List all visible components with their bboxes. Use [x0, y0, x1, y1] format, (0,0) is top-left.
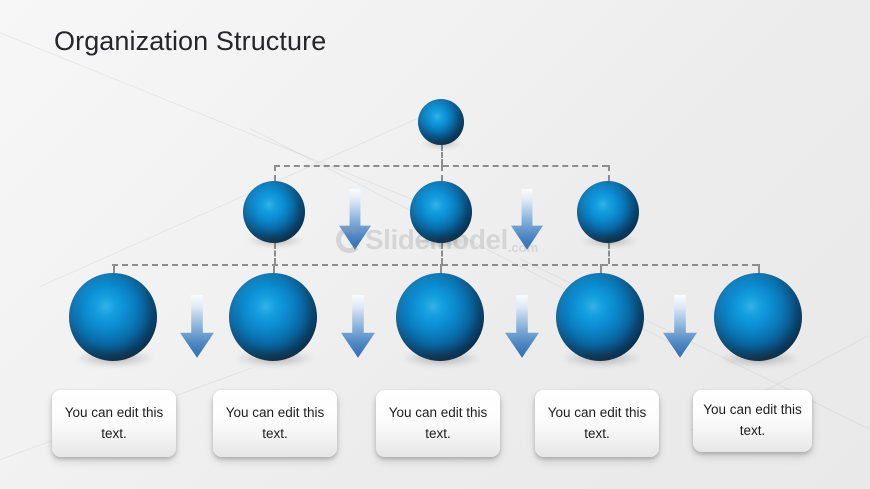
- org-node-sphere[interactable]: [243, 181, 305, 243]
- connector-vertical: [440, 264, 442, 273]
- down-arrow-icon: [511, 189, 543, 251]
- connector-vertical: [600, 264, 602, 273]
- editable-text-box[interactable]: You can edit this text.: [693, 390, 812, 452]
- org-node-sphere[interactable]: [714, 273, 802, 361]
- connector-vertical: [608, 165, 610, 181]
- slide-canvas: Organization Structure SlideModel .com Y…: [0, 0, 870, 489]
- org-node-sphere[interactable]: [229, 273, 317, 361]
- down-arrow-icon: [663, 295, 697, 359]
- slide-title: Organization Structure: [54, 26, 326, 57]
- editable-text-box[interactable]: You can edit this text.: [535, 390, 659, 457]
- org-node-sphere[interactable]: [69, 273, 157, 361]
- down-arrow-icon: [505, 295, 539, 359]
- editable-text-box-label: You can edit this text.: [384, 403, 492, 445]
- editable-text-box[interactable]: You can edit this text.: [52, 390, 176, 457]
- org-node-sphere[interactable]: [410, 181, 472, 243]
- editable-text-box-label: You can edit this text.: [701, 400, 804, 442]
- connector-vertical: [441, 165, 443, 181]
- org-node-sphere[interactable]: [396, 273, 484, 361]
- connector-horizontal: [112, 264, 758, 266]
- editable-text-box-label: You can edit this text.: [221, 403, 329, 445]
- editable-text-box[interactable]: You can edit this text.: [213, 390, 337, 457]
- connector-vertical: [113, 264, 115, 273]
- editable-text-box-label: You can edit this text.: [543, 403, 651, 445]
- org-node-sphere[interactable]: [418, 99, 464, 145]
- editable-text-box[interactable]: You can edit this text.: [376, 390, 500, 457]
- connector-vertical: [758, 264, 760, 273]
- down-arrow-icon: [341, 295, 375, 359]
- org-node-sphere[interactable]: [577, 181, 639, 243]
- connector-vertical: [441, 145, 443, 165]
- editable-text-box-label: You can edit this text.: [60, 403, 168, 445]
- org-node-sphere[interactable]: [556, 273, 644, 361]
- down-arrow-icon: [339, 189, 371, 251]
- down-arrow-icon: [180, 295, 214, 359]
- connector-vertical: [274, 165, 276, 181]
- connector-vertical: [273, 264, 275, 273]
